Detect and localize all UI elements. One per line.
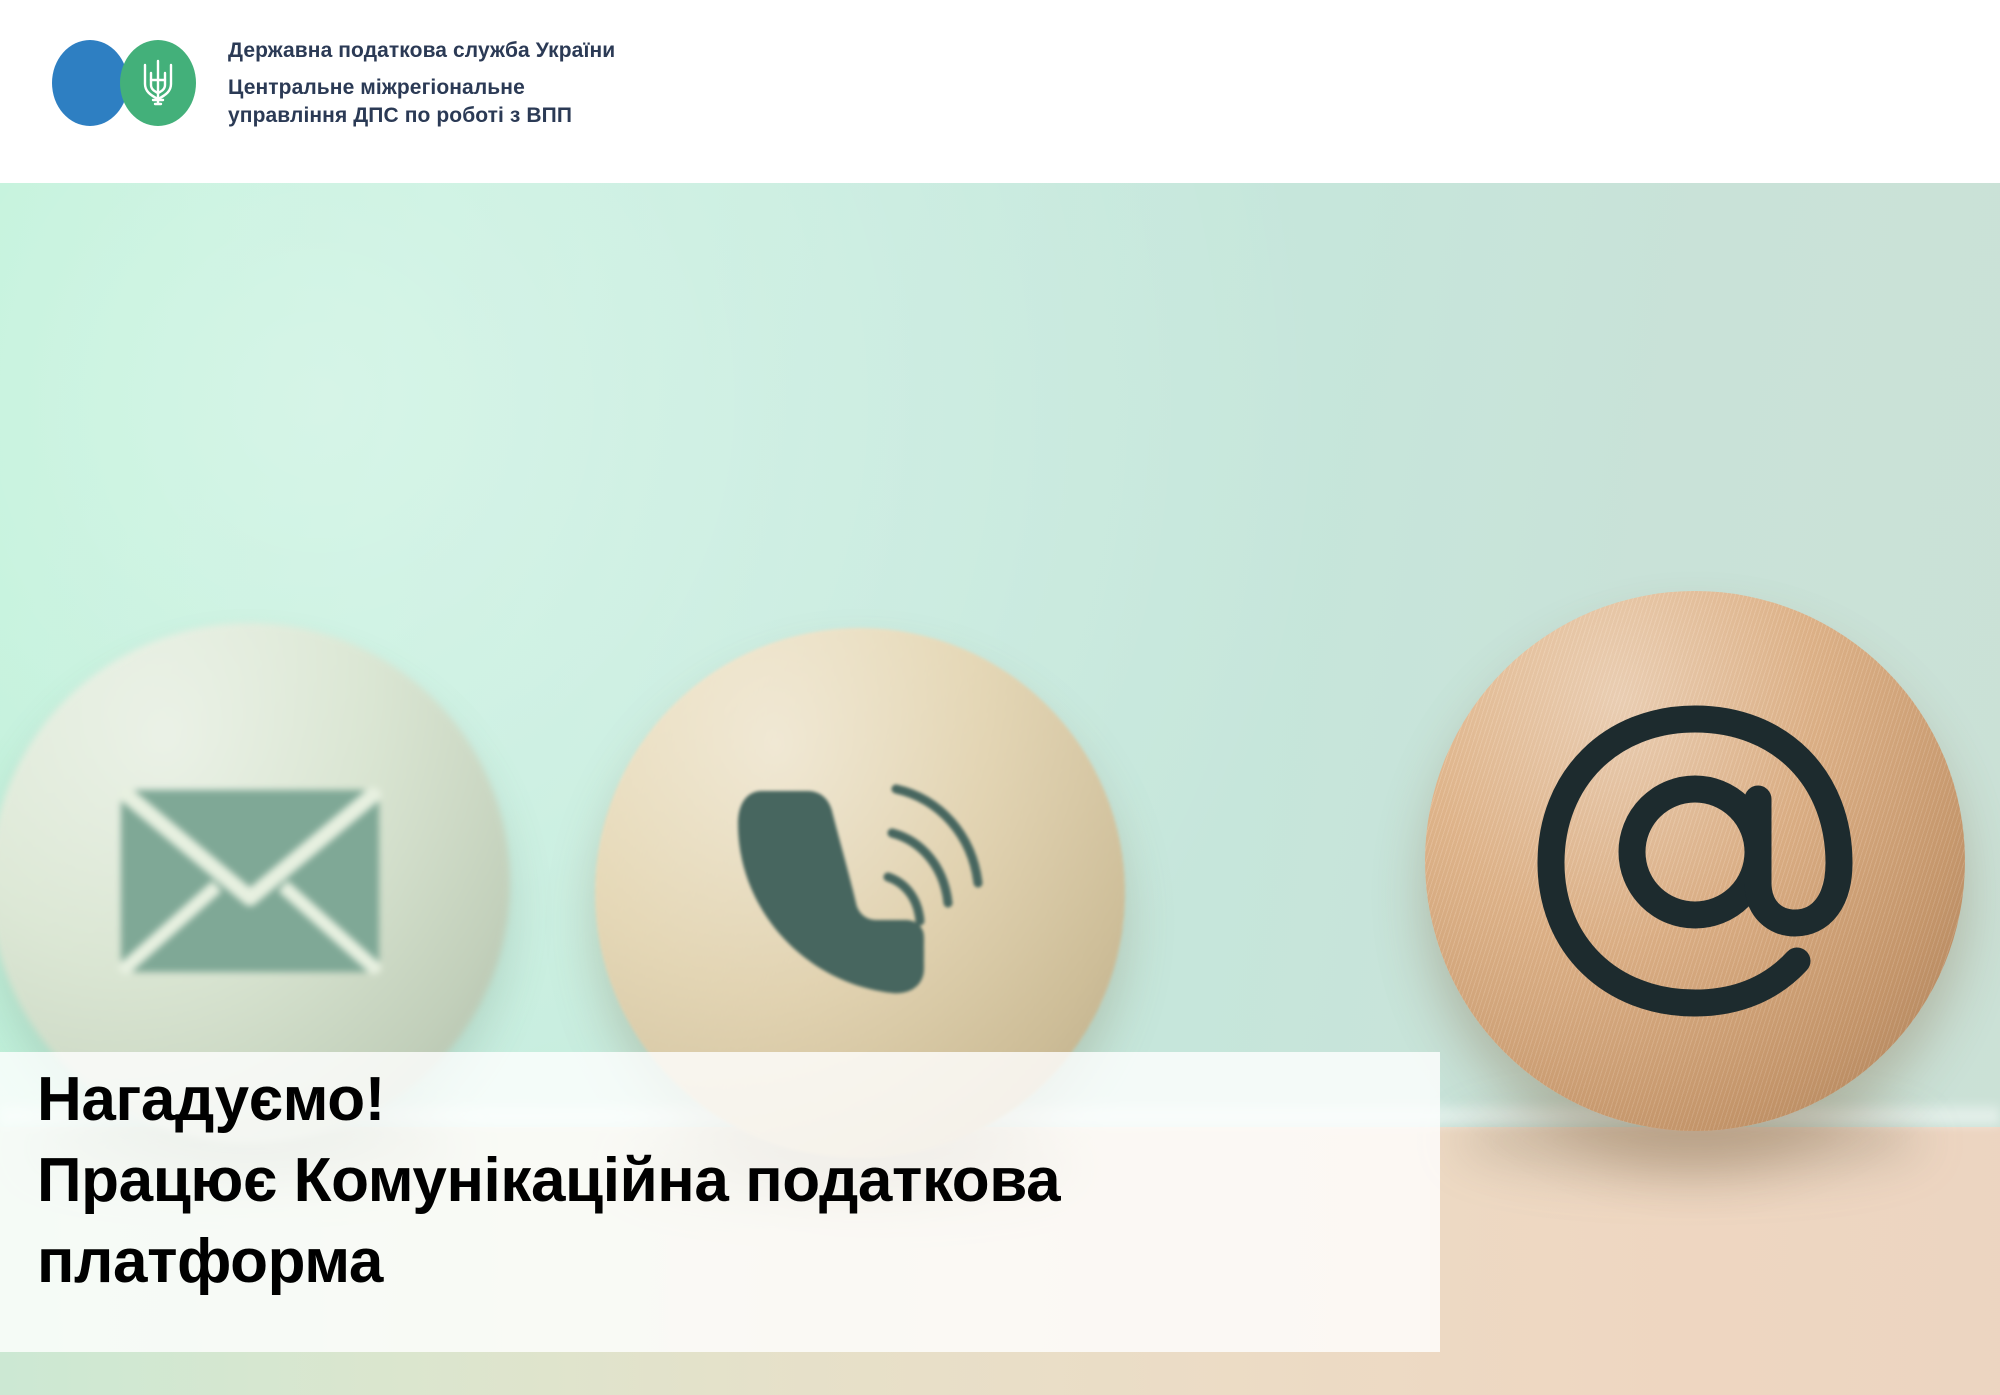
agency-logo bbox=[52, 40, 202, 126]
site-header: Державна податкова служба України Центра… bbox=[0, 0, 2000, 183]
logo-green-circle bbox=[120, 40, 196, 126]
brand-department-name: Центральне міжрегіональне управління ДПС… bbox=[228, 74, 615, 131]
brand-org-name: Державна податкова служба України bbox=[228, 38, 615, 65]
brand-department-line-1: Центральне міжрегіональне bbox=[228, 74, 615, 103]
at-sign-icon bbox=[1523, 687, 1867, 1036]
page-title: Нагадуємо! Працює Комунікаційна податков… bbox=[37, 1060, 1437, 1303]
poster-canvas: Державна податкова служба України Центра… bbox=[0, 0, 2000, 1395]
headline-line-2: Працює Комунікаційна податкова bbox=[37, 1141, 1437, 1222]
phone-ringing-icon bbox=[710, 761, 1010, 1026]
envelope-icon bbox=[119, 788, 381, 979]
brand-text-block: Державна податкова служба України Центра… bbox=[228, 38, 615, 131]
headline-line-3: платформа bbox=[37, 1222, 1437, 1303]
ukrainian-trident-tryzub-icon bbox=[138, 56, 178, 110]
headline-line-1: Нагадуємо! bbox=[37, 1060, 1437, 1141]
brand-department-line-2: управління ДПС по роботі з ВПП bbox=[228, 102, 615, 131]
logo-blue-circle bbox=[52, 40, 128, 126]
at-sign-disc bbox=[1425, 591, 1965, 1131]
